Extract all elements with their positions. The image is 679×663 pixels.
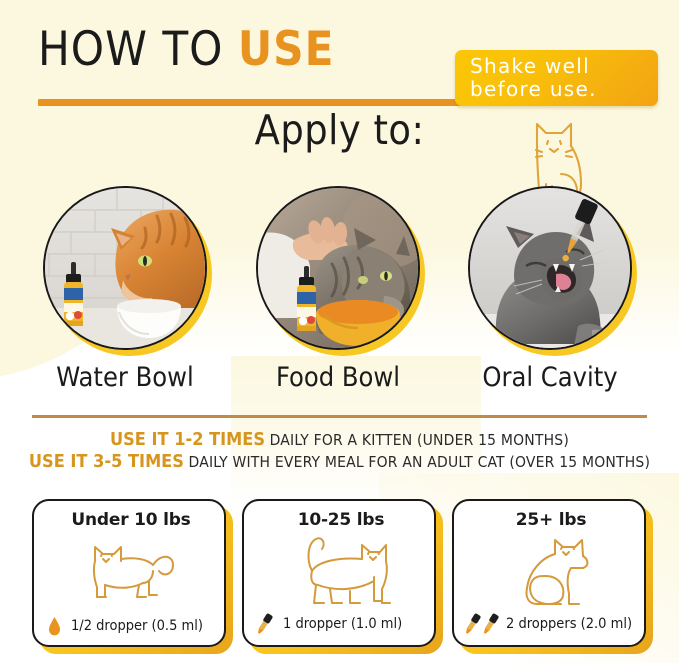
shake-badge-line2: before use. <box>470 78 658 101</box>
apply-item-food-bowl: Food Bowl <box>256 186 420 350</box>
droplet-icon <box>48 616 61 636</box>
card-dose-row: 1/2 dropper (0.5 ml) <box>34 616 228 636</box>
dosage-line-kitten-rest: DAILY FOR A KITTEN (UNDER 15 MONTHS) <box>265 431 569 449</box>
water-bowl-photo <box>43 186 207 350</box>
dosage-line-adult-rest: DAILY WITH EVERY MEAL FOR AN ADULT CAT (… <box>184 453 650 471</box>
card-title-10-25: 10-25 lbs <box>244 510 438 530</box>
circle-label-oral-cavity: Oral Cavity <box>446 362 654 393</box>
dosage-line-adult: USE IT 3-5 TIMES DAILY WITH EVERY MEAL F… <box>0 451 679 473</box>
section-divider <box>32 415 647 418</box>
card-body: 10-25 lbs <box>242 499 436 647</box>
card-dose-row: 1 dropper (1.0 ml) <box>244 612 438 636</box>
card-dose-10-25: 1 dropper (1.0 ml) <box>283 616 402 632</box>
dosage-instructions: USE IT 1-2 TIMES DAILY FOR A KITTEN (UND… <box>0 429 679 473</box>
dropper-icon <box>464 612 481 636</box>
apply-item-oral-cavity: Oral Cavity <box>468 186 632 350</box>
dosage-line-kitten: USE IT 1-2 TIMES DAILY FOR A KITTEN (UND… <box>0 429 679 451</box>
card-body: Under 10 lbs <box>32 499 226 647</box>
circle-wrap <box>43 186 207 350</box>
dosage-line-kitten-strong: USE IT 1-2 TIMES <box>110 429 265 450</box>
card-title-25-plus: 25+ lbs <box>454 510 648 530</box>
sitting-cat-icon <box>454 533 648 611</box>
card-body: 25+ lbs <box>452 499 646 647</box>
title-underline <box>38 99 468 106</box>
oral-cavity-photo <box>468 186 632 350</box>
header: HOW TO USE Shake well before use. <box>0 22 679 94</box>
dosage-line-adult-strong: USE IT 3-5 TIMES <box>29 451 184 472</box>
apply-item-water-bowl: Water Bowl <box>43 186 207 350</box>
page-title-plain: HOW TO <box>38 22 238 77</box>
shake-well-badge: Shake well before use. <box>455 50 658 106</box>
page-title: HOW TO USE <box>38 22 335 78</box>
dropper-icon <box>256 612 273 636</box>
card-dose-under-10: 1/2 dropper (0.5 ml) <box>71 618 203 634</box>
shake-badge-line1: Shake well <box>470 55 658 78</box>
card-dose-row: 2 droppers (2.0 ml) <box>454 612 648 636</box>
page-title-accent: USE <box>238 22 335 77</box>
standing-kitten-icon <box>34 533 228 611</box>
weight-dosage-cards: Under 10 lbs <box>0 499 679 657</box>
weight-card-10-25: 10-25 lbs <box>242 499 436 647</box>
dropper-icon-pair <box>464 612 499 636</box>
walking-cat-icon <box>244 533 438 611</box>
dropper-icon <box>482 612 499 636</box>
apply-to-circles: Water Bowl <box>0 186 679 396</box>
apply-to-heading: Apply to: <box>0 106 679 154</box>
circle-label-food-bowl: Food Bowl <box>234 362 442 393</box>
circle-wrap <box>256 186 420 350</box>
food-bowl-photo <box>256 186 420 350</box>
card-title-under-10: Under 10 lbs <box>34 510 228 530</box>
card-dose-25-plus: 2 droppers (2.0 ml) <box>506 616 632 632</box>
circle-wrap <box>468 186 632 350</box>
weight-card-25-plus: 25+ lbs <box>452 499 646 647</box>
weight-card-under-10: Under 10 lbs <box>32 499 226 647</box>
infographic-root: HOW TO USE Shake well before use. Apply … <box>0 0 679 663</box>
circle-label-water-bowl: Water Bowl <box>21 362 229 393</box>
